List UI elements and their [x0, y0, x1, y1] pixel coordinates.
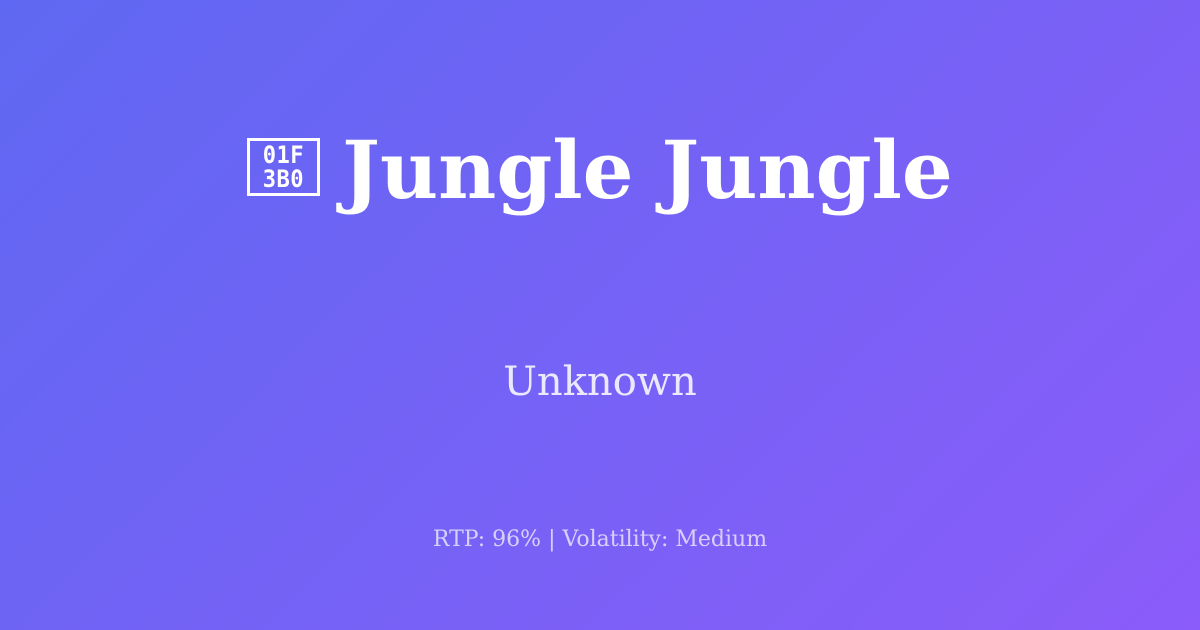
- tofu-codepoint-bottom: 3B0: [263, 167, 304, 191]
- page-subtitle: Unknown: [0, 360, 1200, 404]
- tofu-codepoint-top: 01F: [263, 143, 304, 167]
- game-meta-line: RTP: 96% | Volatility: Medium: [0, 527, 1200, 553]
- page-title: Jungle Jungle: [342, 130, 953, 210]
- slot-machine-icon: 01F 3B0: [247, 138, 320, 196]
- title-row: 01F 3B0 Jungle Jungle: [0, 0, 1200, 340]
- og-preview-card: 01F 3B0 Jungle Jungle Unknown RTP: 96% |…: [0, 0, 1200, 630]
